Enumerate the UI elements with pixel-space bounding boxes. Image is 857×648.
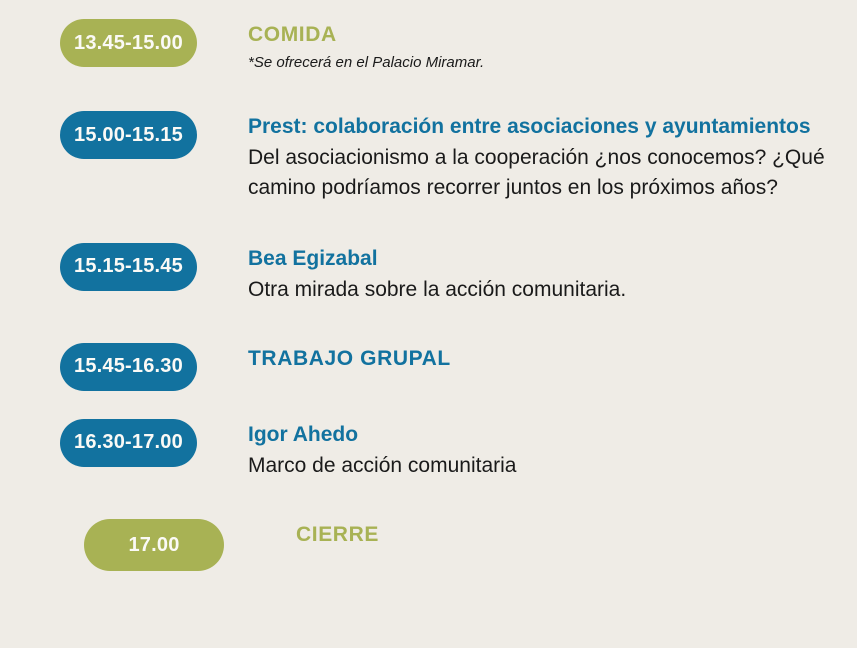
time-badge: 15.45-16.30	[60, 343, 197, 391]
session-content: TRABAJO GRUPAL	[248, 343, 837, 373]
session-description: Del asociacionismo a la cooperación ¿nos…	[248, 143, 837, 204]
schedule-row-comida: 13.45-15.00 COMIDA *Se ofrecerá en el Pa…	[0, 0, 857, 72]
session-content: Igor Ahedo Marco de acción comunitaria	[248, 419, 837, 481]
session-content: Prest: colaboración entre asociaciones y…	[248, 111, 837, 204]
session-content: CIERRE	[296, 519, 837, 549]
session-content: Bea Egizabal Otra mirada sobre la acción…	[248, 243, 837, 305]
schedule-row-cierre: 17.00 CIERRE	[0, 481, 857, 571]
time-cell: 17.00	[60, 519, 296, 571]
schedule-row-igor-ahedo: 16.30-17.00 Igor Ahedo Marco de acción c…	[0, 391, 857, 481]
time-cell: 16.30-17.00	[60, 419, 248, 467]
time-cell: 15.15-15.45	[60, 243, 248, 291]
time-cell: 15.45-16.30	[60, 343, 248, 391]
session-title: Prest: colaboración entre asociaciones y…	[248, 113, 837, 141]
time-badge: 16.30-17.00	[60, 419, 197, 467]
time-badge: 15.15-15.45	[60, 243, 197, 291]
time-cell: 15.00-15.15	[60, 111, 248, 159]
time-badge: 17.00	[84, 519, 224, 571]
time-cell: 13.45-15.00	[60, 19, 248, 67]
time-badge: 13.45-15.00	[60, 19, 197, 67]
schedule-list: 13.45-15.00 COMIDA *Se ofrecerá en el Pa…	[0, 0, 857, 648]
session-description: Otra mirada sobre la acción comunitaria.	[248, 275, 837, 305]
session-content: COMIDA *Se ofrecerá en el Palacio Mirama…	[248, 19, 837, 72]
session-title: CIERRE	[296, 521, 837, 549]
session-title: Bea Egizabal	[248, 245, 837, 273]
session-title: TRABAJO GRUPAL	[248, 345, 837, 373]
time-badge: 15.00-15.15	[60, 111, 197, 159]
schedule-row-prest: 15.00-15.15 Prest: colaboración entre as…	[0, 72, 857, 204]
schedule-row-trabajo-grupal: 15.45-16.30 TRABAJO GRUPAL	[0, 305, 857, 391]
session-title: Igor Ahedo	[248, 421, 837, 449]
schedule-row-bea-egizabal: 15.15-15.45 Bea Egizabal Otra mirada sob…	[0, 204, 857, 305]
session-title: COMIDA	[248, 21, 837, 49]
session-note: *Se ofrecerá en el Palacio Miramar.	[248, 53, 837, 73]
session-description: Marco de acción comunitaria	[248, 451, 837, 481]
